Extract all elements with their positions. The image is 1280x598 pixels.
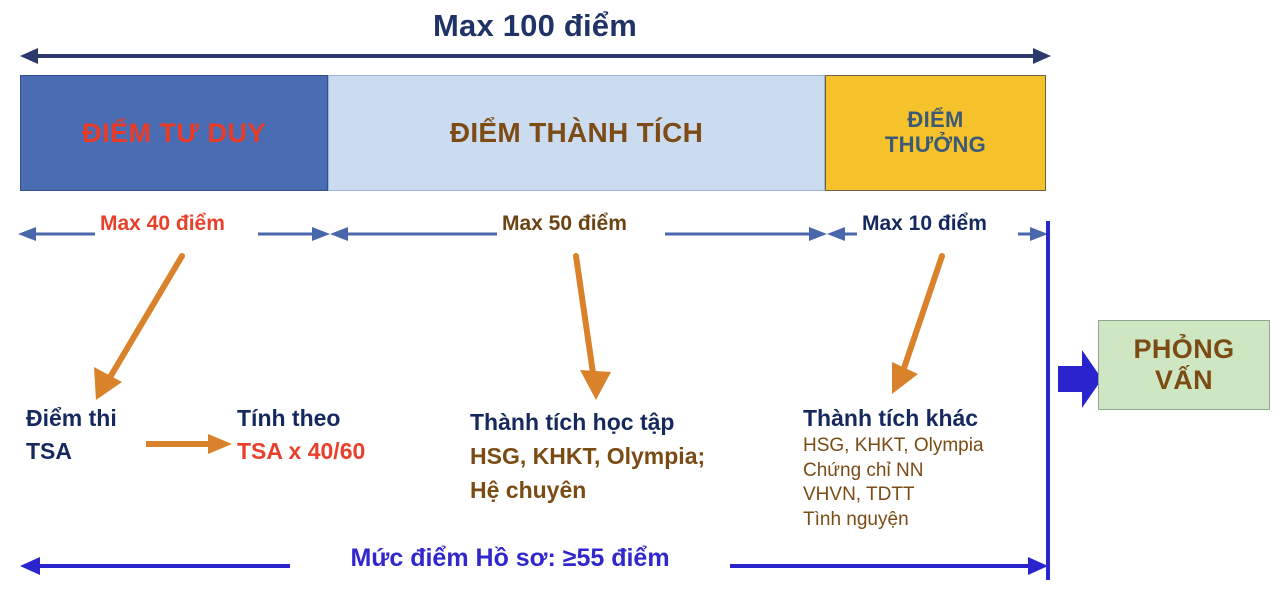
bar-segment-thinking-label: ĐIỂM TƯ DUY <box>82 118 266 148</box>
connector-arrow-thinking <box>70 248 200 408</box>
bar-segment-bonus-label: ĐIỂM THƯỞNG <box>885 108 986 157</box>
dimension-label-achievement: Max 50 điểm <box>502 212 627 236</box>
interview-box-label: PHỎNG VẤN <box>1133 334 1234 396</box>
detail-bonus-item-4: Tình nguyện <box>803 508 984 533</box>
dimension-label-thinking: Max 40 điểm <box>100 212 225 236</box>
detail-bonus-item-1: HSG, KHKT, Olympia <box>803 434 984 459</box>
right-vertical-rail <box>1046 221 1050 580</box>
detail-thinking-formula: Tính theo TSA x 40/60 <box>237 402 365 467</box>
detail-achievement-line2: Hệ chuyên <box>470 473 705 507</box>
detail-thinking-source: Điểm thi TSA <box>26 402 117 467</box>
detail-bonus-item-2: Chứng chỉ NN <box>803 459 984 484</box>
bar-segment-bonus-label-line1: ĐIỂM <box>907 107 963 132</box>
bar-segment-bonus[interactable]: ĐIỂM THƯỞNG <box>825 75 1046 191</box>
detail-thinking-formula-line2: TSA x 40/60 <box>237 435 365 468</box>
interview-box[interactable]: PHỎNG VẤN <box>1098 320 1270 410</box>
bar-segment-achievement[interactable]: ĐIỂM THÀNH TÍCH <box>328 75 825 191</box>
detail-thinking-formula-line1: Tính theo <box>237 402 365 435</box>
detail-achievement-line1: HSG, KHKT, Olympia; <box>470 439 705 473</box>
connector-arrow-achievement <box>560 248 630 408</box>
interview-block-arrow-icon <box>1058 348 1102 415</box>
detail-bonus-item-3: VHVN, TDTT <box>803 483 984 508</box>
interview-box-line2: VẤN <box>1155 365 1213 395</box>
score-stacked-bar: ĐIỂM TƯ DUY ĐIỂM THÀNH TÍCH ĐIỂM THƯỞNG <box>20 75 1046 191</box>
connector-arrow-bonus <box>870 250 960 405</box>
detail-achievement: Thành tích học tập HSG, KHKT, Olympia; H… <box>470 405 705 507</box>
total-range-arrow <box>20 47 1051 65</box>
detail-thinking-source-line1: Điểm thi <box>26 402 117 435</box>
dossier-threshold-label: Mức điểm Hồ sơ: ≥55 điểm <box>290 544 730 573</box>
bar-segment-bonus-label-line2: THƯỞNG <box>885 132 986 157</box>
detail-bonus-heading: Thành tích khác <box>803 403 984 434</box>
bar-segment-thinking[interactable]: ĐIỂM TƯ DUY <box>20 75 328 191</box>
detail-bonus: Thành tích khác HSG, KHKT, Olympia Chứng… <box>803 403 984 533</box>
page-title: Max 100 điểm <box>0 8 1070 44</box>
interview-box-line1: PHỎNG <box>1133 334 1234 364</box>
dimension-label-bonus: Max 10 điểm <box>862 212 987 236</box>
bar-segment-achievement-label: ĐIỂM THÀNH TÍCH <box>450 117 703 148</box>
diagram-canvas: Max 100 điểm ĐIỂM TƯ DUY ĐIỂM THÀNH TÍCH… <box>0 0 1280 598</box>
tsa-formula-arrow <box>146 432 232 463</box>
detail-thinking-source-line2: TSA <box>26 435 117 468</box>
detail-achievement-heading: Thành tích học tập <box>470 405 705 439</box>
dossier-threshold-arrow: Mức điểm Hồ sơ: ≥55 điểm <box>0 548 1280 588</box>
